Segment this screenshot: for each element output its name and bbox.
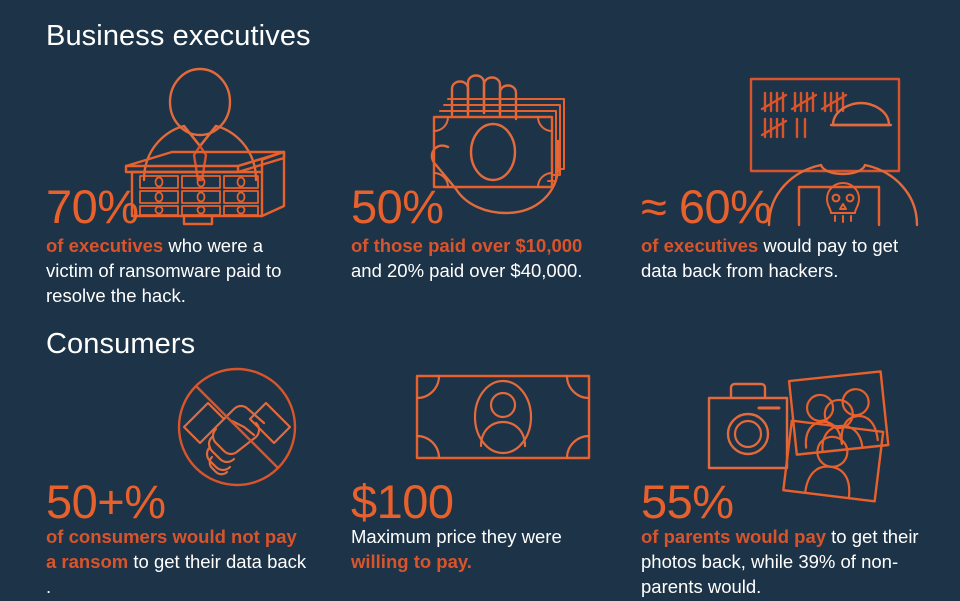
stat-description: of parents would pay to get their photos… bbox=[641, 524, 921, 599]
banknote-icon bbox=[413, 372, 593, 462]
stat-number: 50% bbox=[351, 183, 444, 230]
executive-briefcase-cash-icon bbox=[112, 60, 292, 225]
stat-number: 70% bbox=[46, 183, 139, 230]
stat-highlight: of those paid over $10,000 bbox=[351, 235, 582, 256]
stat-rest: and 20% paid over $40,000. bbox=[351, 260, 582, 281]
stat-description: Maximum price they were willing to pay. bbox=[351, 524, 613, 574]
stat-description: of executives would pay to get data back… bbox=[641, 233, 903, 283]
stat-highlight: of executives bbox=[46, 235, 163, 256]
stat-number: ≈ 60% bbox=[641, 183, 771, 230]
stat-lead: Maximum price they were bbox=[351, 526, 562, 547]
infographic-canvas: Business executives Consumers bbox=[0, 0, 960, 601]
stat-number: $100 bbox=[351, 478, 454, 525]
stat-number: 50+% bbox=[46, 478, 166, 525]
stat-highlight: of executives bbox=[641, 235, 758, 256]
section-heading-consumers: Consumers bbox=[46, 328, 195, 361]
stat-description: of those paid over $10,000 and 20% paid … bbox=[351, 233, 613, 283]
no-handshake-icon bbox=[172, 365, 312, 495]
stat-number: 55% bbox=[641, 478, 734, 525]
stat-description: of executives who were a victim of ranso… bbox=[46, 233, 308, 308]
section-heading-business-executives: Business executives bbox=[46, 20, 311, 53]
stat-highlight: willing to pay. bbox=[351, 551, 472, 572]
stat-highlight: of parents would pay bbox=[641, 526, 826, 547]
stat-description: of consumers would not pay a ransom to g… bbox=[46, 524, 308, 599]
